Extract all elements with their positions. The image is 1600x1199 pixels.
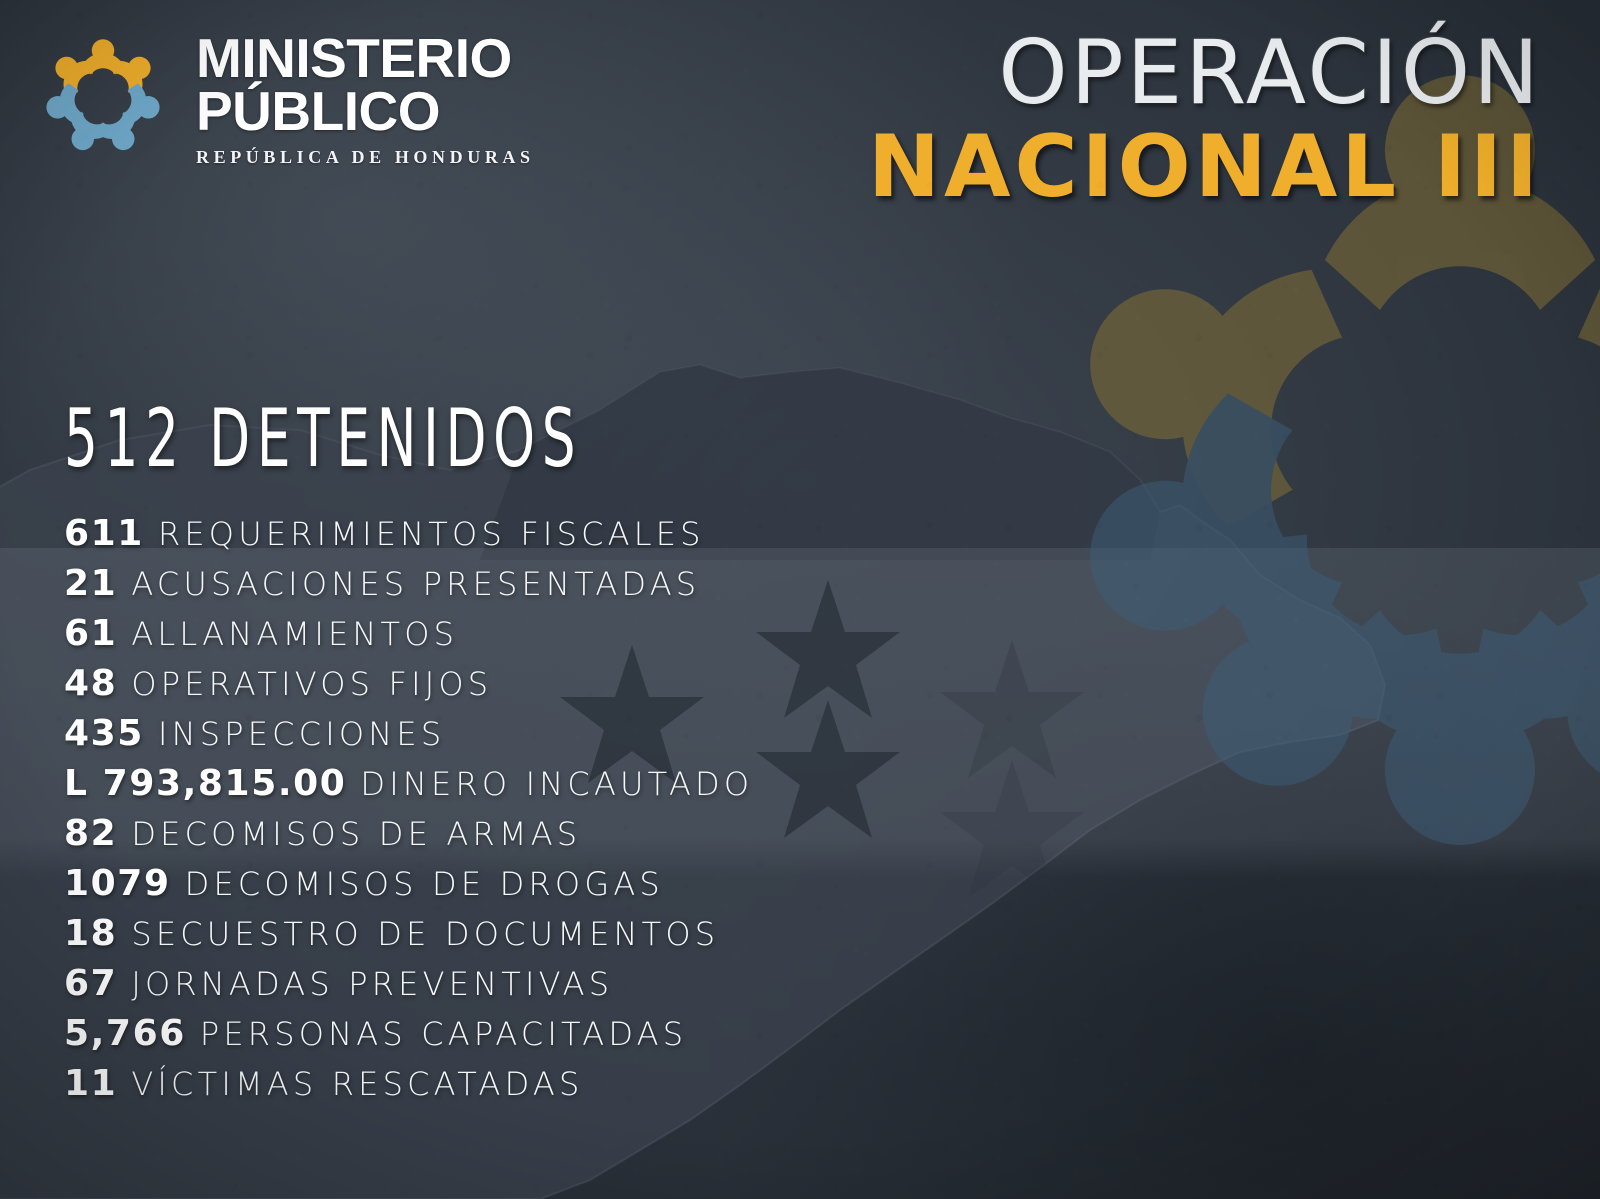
- stat-label: JORNADAS PREVENTIVAS: [131, 965, 613, 1003]
- stat-value: 21: [64, 563, 117, 604]
- stat-value: 611: [64, 513, 144, 554]
- stat-value: 1079: [64, 863, 171, 904]
- stat-label: DECOMISOS DE ARMAS: [131, 815, 581, 853]
- stat-value: 48: [64, 663, 117, 704]
- stat-row: 435INSPECCIONES: [64, 713, 1084, 763]
- stat-value: 61: [64, 613, 117, 654]
- infographic-poster: MINISTERIO PÚBLICO REPÚBLICA DE HONDURAS…: [0, 0, 1600, 1199]
- stat-row: L 793,815.00DINERO INCAUTADO: [64, 763, 1084, 813]
- stat-row: 61ALLANAMIENTOS: [64, 613, 1084, 663]
- stat-label: OPERATIVOS FIJOS: [131, 665, 492, 703]
- people-circle-logo-icon: [28, 22, 178, 172]
- stat-row: 611REQUERIMIENTOS FISCALES: [64, 513, 1084, 563]
- stat-row: 18SECUESTRO DE DOCUMENTOS: [64, 913, 1084, 963]
- operation-title: OPERACIÓN NACIONAL III: [868, 28, 1542, 210]
- stat-label: DINERO INCAUTADO: [360, 765, 753, 803]
- stat-row: 48OPERATIVOS FIJOS: [64, 663, 1084, 713]
- stat-label: VÍCTIMAS RESCATADAS: [131, 1065, 583, 1103]
- operation-title-line2: NACIONAL III: [868, 124, 1542, 210]
- brand-wordmark: MINISTERIO PÚBLICO REPÚBLICA DE HONDURAS: [196, 26, 539, 169]
- stat-label: ACUSACIONES PRESENTADAS: [131, 565, 700, 603]
- page-headline: 512 DETENIDOS: [64, 392, 582, 485]
- stat-label: DECOMISOS DE DROGAS: [185, 865, 664, 903]
- stat-row: 21ACUSACIONES PRESENTADAS: [64, 563, 1084, 613]
- stat-row: 1079DECOMISOS DE DROGAS: [64, 863, 1084, 913]
- stat-value: 67: [64, 963, 117, 1004]
- stat-label: INSPECCIONES: [158, 715, 445, 753]
- operation-title-line1: OPERACIÓN: [868, 28, 1542, 118]
- ministerio-publico-logo: MINISTERIO PÚBLICO REPÚBLICA DE HONDURAS: [28, 22, 539, 172]
- brand-name-line2: PÚBLICO: [196, 85, 539, 138]
- stat-value: 435: [64, 713, 144, 754]
- stat-label: PERSONAS CAPACITADAS: [200, 1015, 687, 1053]
- brand-name-line1: MINISTERIO: [196, 32, 539, 85]
- stat-value: 82: [64, 813, 117, 854]
- stat-value: 11: [64, 1063, 117, 1104]
- stat-value: 5,766: [64, 1013, 186, 1054]
- brand-subtitle: REPÚBLICA DE HONDURAS: [196, 147, 539, 168]
- stat-row: 82DECOMISOS DE ARMAS: [64, 813, 1084, 863]
- statistics-list: 611REQUERIMIENTOS FISCALES21ACUSACIONES …: [64, 513, 1084, 1113]
- stat-row: 5,766PERSONAS CAPACITADAS: [64, 1013, 1084, 1063]
- stat-value: 18: [64, 913, 117, 954]
- stat-row: 67JORNADAS PREVENTIVAS: [64, 963, 1084, 1013]
- stat-label: SECUESTRO DE DOCUMENTOS: [131, 915, 719, 953]
- stat-label: ALLANAMIENTOS: [131, 615, 458, 653]
- stat-row: 11VÍCTIMAS RESCATADAS: [64, 1063, 1084, 1113]
- stat-label: REQUERIMIENTOS FISCALES: [158, 515, 705, 553]
- stat-value: L 793,815.00: [64, 763, 346, 804]
